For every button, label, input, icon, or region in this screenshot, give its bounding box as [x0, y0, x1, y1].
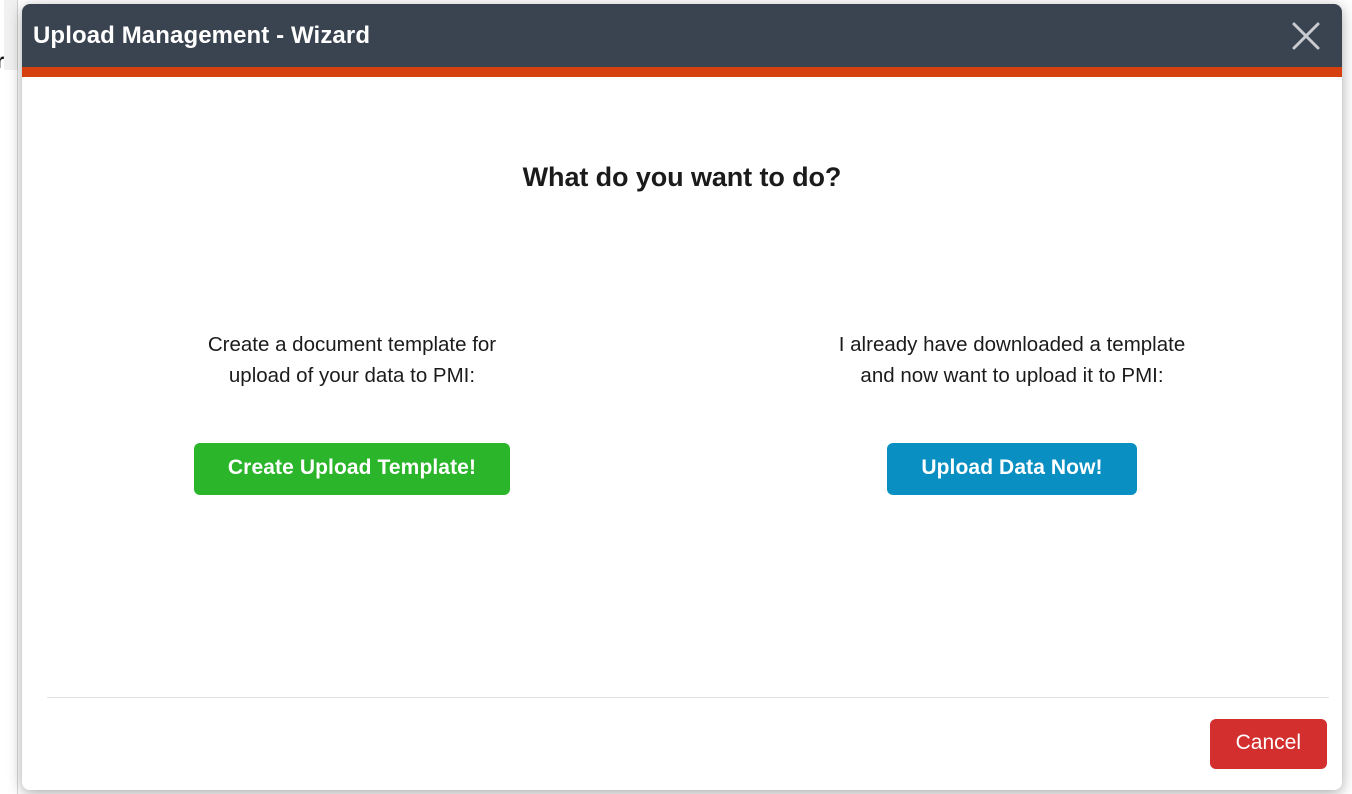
choice-row: Create a document template for upload of… — [22, 329, 1342, 495]
choice-description: Create a document template for upload of… — [208, 329, 496, 391]
background-text-sliver: r — [0, 50, 4, 74]
close-button[interactable] — [1284, 14, 1328, 58]
dialog-body: What do you want to do? Create a documen… — [22, 77, 1342, 790]
background-panel-edge-top — [4, 0, 18, 70]
choice-upload-data: I already have downloaded a template and… — [682, 329, 1342, 495]
choice-description: I already have downloaded a template and… — [839, 329, 1185, 391]
dialog-header: Upload Management - Wizard — [22, 4, 1342, 67]
background-panel-edge-bottom — [4, 70, 18, 794]
dialog-footer: Cancel — [22, 698, 1342, 790]
accent-bar — [22, 67, 1342, 77]
upload-management-wizard-dialog: Upload Management - Wizard What do you w… — [22, 4, 1342, 790]
dialog-title: Upload Management - Wizard — [33, 22, 370, 50]
create-upload-template-button[interactable]: Create Upload Template! — [194, 443, 510, 495]
choice-create-template: Create a document template for upload of… — [22, 329, 682, 495]
upload-data-now-button[interactable]: Upload Data Now! — [887, 443, 1136, 495]
close-icon — [1289, 19, 1323, 53]
page-title: What do you want to do? — [22, 162, 1342, 193]
cancel-button[interactable]: Cancel — [1210, 719, 1327, 769]
